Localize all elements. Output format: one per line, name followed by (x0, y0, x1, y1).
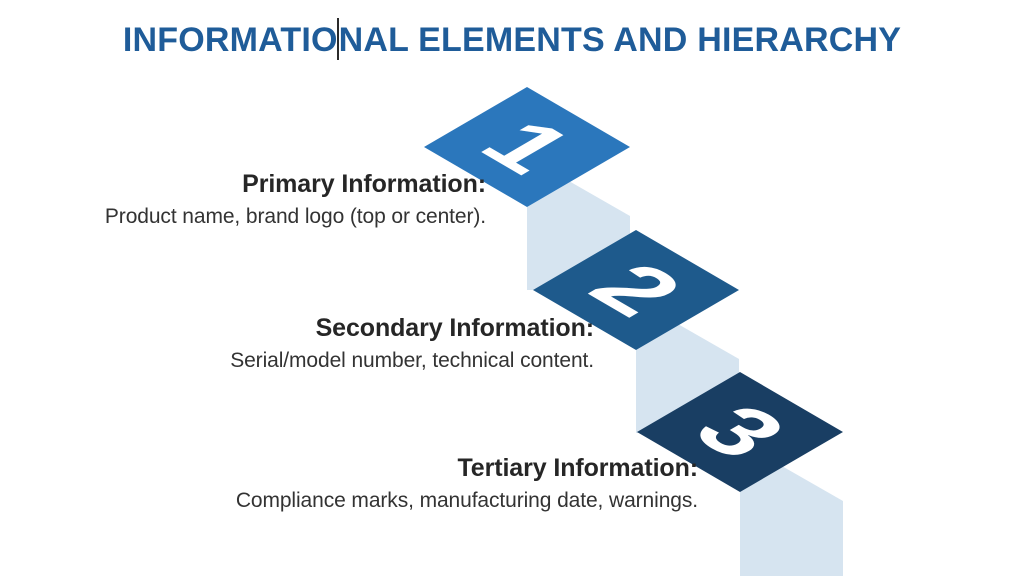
step-2-description: Serial/model number, technical content. (0, 346, 594, 376)
page-title-before-caret: INFORMATIO (123, 18, 338, 62)
step-3-heading: Tertiary Information: (0, 452, 698, 484)
step-3-description: Compliance marks, manufacturing date, wa… (0, 486, 698, 516)
page-title-text: INFORMATIONAL ELEMENTS AND HIERARCHY (123, 18, 901, 62)
step-block-2-side (636, 300, 739, 433)
slide-canvas: INFORMATIONAL ELEMENTS AND HIERARCHY 1 2 (0, 0, 1024, 576)
page-title[interactable]: INFORMATIONAL ELEMENTS AND HIERARCHY (0, 18, 1024, 62)
step-2-heading: Secondary Information: (0, 312, 594, 344)
step-label-3[interactable]: Tertiary Information: Compliance marks, … (0, 452, 698, 516)
step-label-2[interactable]: Secondary Information: Serial/model numb… (0, 312, 594, 376)
step-1-description: Product name, brand logo (top or center)… (0, 202, 486, 232)
step-1-heading: Primary Information: (0, 168, 486, 200)
step-label-1[interactable]: Primary Information: Product name, brand… (0, 168, 486, 232)
page-title-after-caret: NAL ELEMENTS AND HIERARCHY (339, 18, 901, 62)
step-block-1-side (527, 157, 630, 290)
step-block-3-side (740, 442, 843, 576)
